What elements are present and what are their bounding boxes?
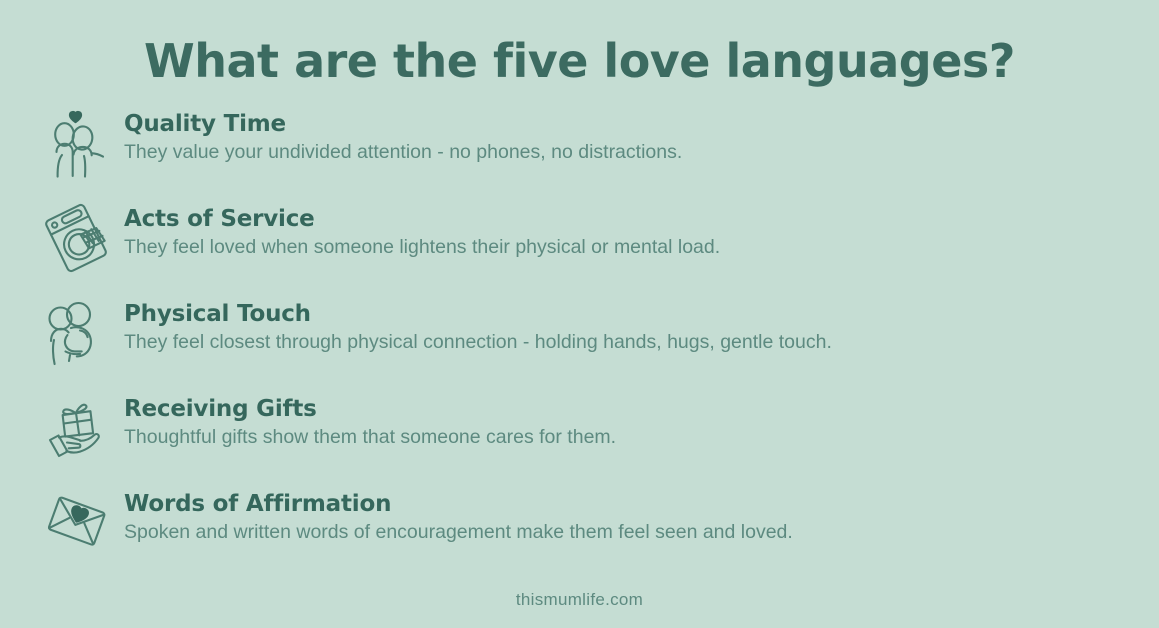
hand-holding-gift-icon	[40, 390, 112, 464]
item-body: Receiving Gifts Thoughtful gifts show th…	[124, 390, 616, 450]
item-title: Physical Touch	[124, 301, 832, 327]
list-item: Words of Affirmation Spoken and written …	[0, 485, 1159, 580]
footer-website: thismumlife.com	[0, 590, 1159, 610]
list-item: Quality Time They value your undivided a…	[0, 105, 1159, 200]
page-title: What are the five love languages?	[0, 0, 1159, 87]
love-languages-list: Quality Time They value your undivided a…	[0, 105, 1159, 580]
item-title: Words of Affirmation	[124, 491, 793, 517]
list-item: Acts of Service They feel loved when som…	[0, 200, 1159, 295]
washing-machine-with-brush-icon	[40, 200, 112, 274]
infographic-card: What are the five love languages? Qualit…	[0, 0, 1159, 628]
envelope-with-heart-icon	[40, 485, 112, 559]
two-people-hugging-icon	[40, 295, 112, 369]
item-description: They feel loved when someone lightens th…	[124, 236, 720, 259]
item-title: Quality Time	[124, 111, 682, 137]
item-body: Quality Time They value your undivided a…	[124, 105, 682, 165]
item-body: Acts of Service They feel loved when som…	[124, 200, 720, 260]
item-description: They value your undivided attention - no…	[124, 141, 682, 164]
item-body: Words of Affirmation Spoken and written …	[124, 485, 793, 545]
list-item: Physical Touch They feel closest through…	[0, 295, 1159, 390]
item-description: Spoken and written words of encouragemen…	[124, 521, 793, 544]
item-title: Acts of Service	[124, 206, 720, 232]
two-people-with-heart-icon	[40, 105, 112, 179]
item-body: Physical Touch They feel closest through…	[124, 295, 832, 355]
item-description: They feel closest through physical conne…	[124, 331, 832, 354]
list-item: Receiving Gifts Thoughtful gifts show th…	[0, 390, 1159, 485]
item-description: Thoughtful gifts show them that someone …	[124, 426, 616, 449]
item-title: Receiving Gifts	[124, 396, 616, 422]
